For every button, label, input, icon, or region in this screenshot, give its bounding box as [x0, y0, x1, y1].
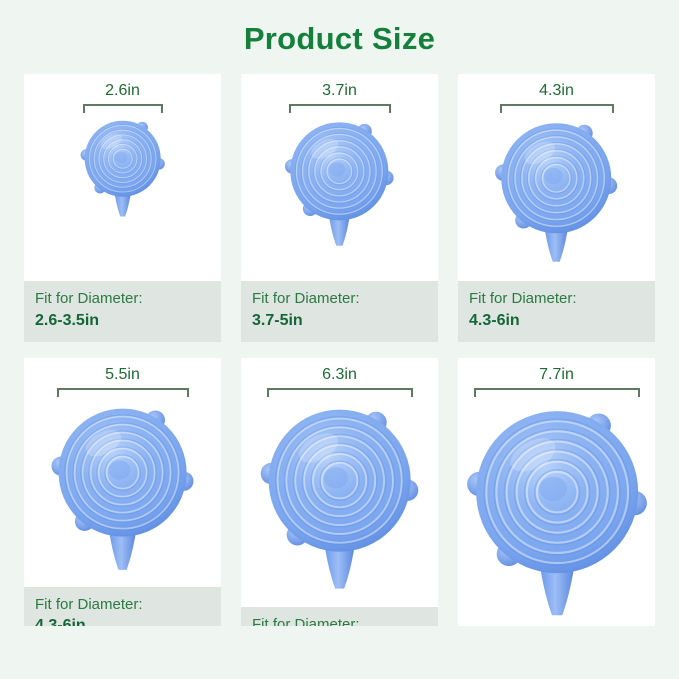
- dimension-value: 3.7in: [322, 82, 357, 100]
- size-card-body: 3.7in: [241, 74, 438, 281]
- dimension-measure: 2.6in: [83, 82, 163, 113]
- dimension-value: 4.3in: [539, 82, 574, 100]
- fit-for-diameter-size: 2.6-3.5in: [35, 311, 210, 331]
- dimension-measure: 3.7in: [289, 82, 391, 113]
- fit-for-diameter-label: Fit for Diameter:: [469, 290, 644, 309]
- silicone-lid-icon: [281, 113, 398, 259]
- product-size-infographic: Product Size 2.6in: [0, 0, 679, 679]
- dimension-value: 7.7in: [539, 366, 574, 384]
- dimension-value: 5.5in: [105, 366, 140, 384]
- lid-illustration-holder: [24, 113, 221, 282]
- size-card-footer: Fit for Diameter: 6.3-8.5in: [241, 607, 438, 626]
- silicone-lid-icon: [491, 113, 622, 277]
- size-card-7-7in: 7.7in: [458, 358, 655, 626]
- dimension-measure: 5.5in: [57, 366, 189, 397]
- size-card-body: 5.5in: [24, 358, 221, 587]
- size-card-2-6in: 2.6in: [24, 74, 221, 342]
- lid-illustration-holder: [458, 113, 655, 282]
- dimension-value: 2.6in: [105, 82, 140, 100]
- lid-illustration-holder: [241, 113, 438, 282]
- dimension-measure: 6.3in: [267, 366, 413, 397]
- measurement-bracket-icon: [500, 104, 614, 113]
- size-card-6-3in: 6.3in: [241, 358, 438, 626]
- size-card-body: 7.7in: [458, 358, 655, 626]
- measurement-bracket-icon: [267, 388, 413, 397]
- measurement-bracket-icon: [83, 104, 163, 113]
- size-card-footer: Fit for Diameter: 4.3-6in: [458, 281, 655, 342]
- size-card-footer: Fit for Diameter: 3.7-5in: [241, 281, 438, 342]
- size-card-5-5in: 5.5in: [24, 358, 221, 626]
- size-card-body: 4.3in: [458, 74, 655, 281]
- size-card-footer: Fit for Diameter: 2.6-3.5in: [24, 281, 221, 342]
- measurement-bracket-icon: [289, 104, 391, 113]
- size-card-grid: 2.6in: [0, 74, 679, 626]
- silicone-lid-icon: [77, 113, 168, 227]
- fit-for-diameter-size: 4.3-6in: [35, 616, 210, 626]
- size-card-4-3in: 4.3in: [458, 74, 655, 342]
- size-card-3-7in: 3.7in: [241, 74, 438, 342]
- size-card-body: 6.3in: [241, 358, 438, 607]
- size-card-body: 2.6in: [24, 74, 221, 281]
- dimension-measure: 4.3in: [500, 82, 614, 113]
- silicone-lid-icon: [462, 397, 652, 626]
- dimension-measure: 7.7in: [474, 366, 640, 397]
- silicone-lid-icon: [47, 397, 198, 587]
- fit-for-diameter-label: Fit for Diameter:: [252, 290, 427, 309]
- fit-for-diameter-label: Fit for Diameter:: [35, 596, 210, 615]
- fit-for-diameter-label: Fit for Diameter:: [252, 616, 427, 626]
- dimension-value: 6.3in: [322, 366, 357, 384]
- page-title: Product Size: [0, 0, 679, 56]
- measurement-bracket-icon: [474, 388, 640, 397]
- fit-for-diameter-size: 3.7-5in: [252, 311, 427, 331]
- silicone-lid-icon: [256, 397, 423, 607]
- lid-illustration-holder: [241, 397, 438, 607]
- measurement-bracket-icon: [57, 388, 189, 397]
- lid-illustration-holder: [24, 397, 221, 587]
- size-card-footer: Fit for Diameter: 4.3-6in: [24, 587, 221, 626]
- fit-for-diameter-label: Fit for Diameter:: [35, 290, 210, 309]
- lid-illustration-holder: [458, 397, 655, 626]
- fit-for-diameter-size: 4.3-6in: [469, 311, 644, 331]
